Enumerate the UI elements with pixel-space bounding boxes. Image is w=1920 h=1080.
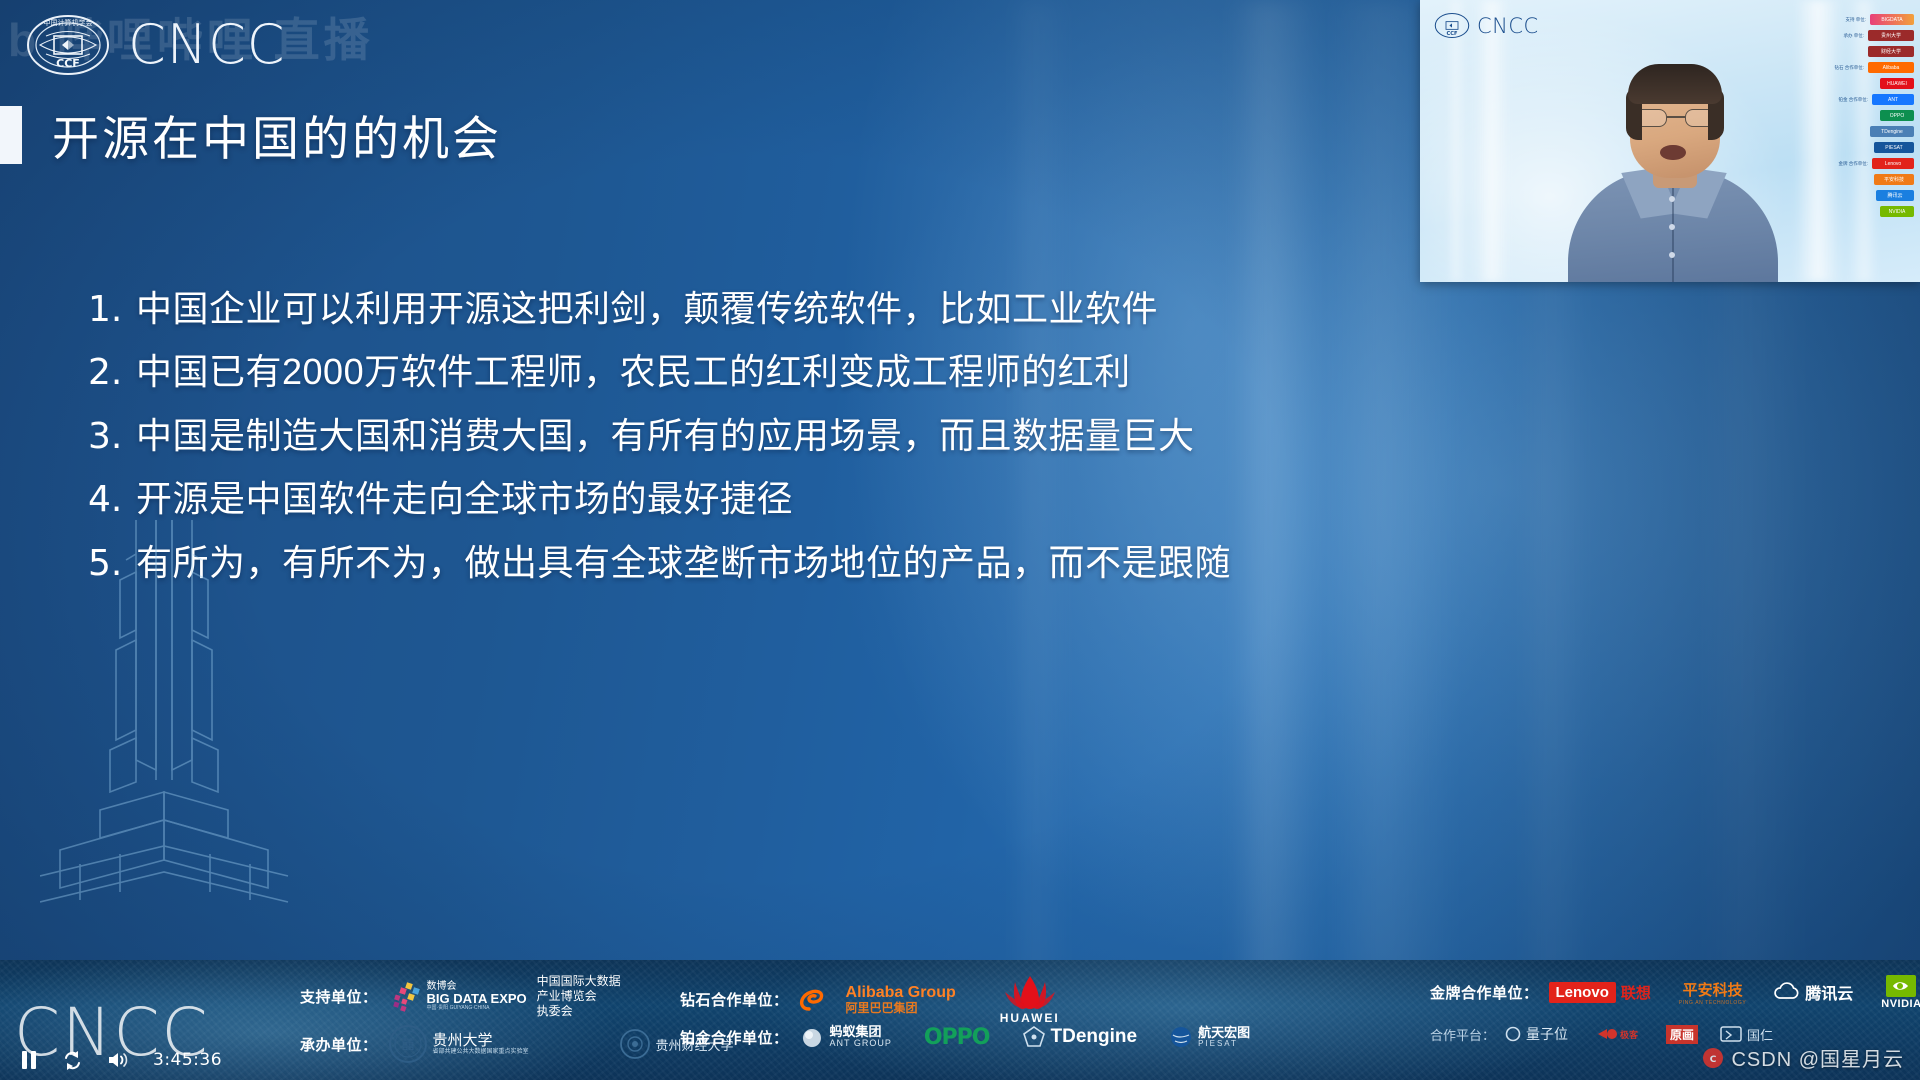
guoke-logo: 国仁 xyxy=(1720,1025,1773,1044)
slide-header: 中国计算机学会 CCF CNCC xyxy=(26,14,286,76)
big-data-expo-logo: BIGDATA xyxy=(1870,14,1914,25)
guizhou-finance-logo: 财经大学 xyxy=(1868,46,1914,57)
big-data-expo-icon xyxy=(388,980,422,1014)
speaker-figure xyxy=(1568,67,1778,282)
lenovo-logo: Lenovo 联想 xyxy=(1549,982,1651,1003)
csdn-watermark: C CSDN @国星月云 xyxy=(1702,1043,1904,1072)
list-item-text: 有所为，有所不为，做出具有全球垄断市场地位的产品，而不是跟随 xyxy=(136,542,1231,584)
list-item: 2. 中国已有2000万软件工程师，农民工的红利变成工程师的红利 xyxy=(88,351,1208,393)
pip-sponsor-row: 腾讯云 xyxy=(1828,190,1914,201)
list-item-number: 3. xyxy=(88,416,136,457)
title-accent-bar xyxy=(0,106,22,164)
webcam-pip-panel[interactable]: CCF CNCC 支持 单位: BIGDATA 承办 单位: 贵州大学 财经大学… xyxy=(1420,0,1920,282)
ant-icon xyxy=(799,1024,825,1050)
tencent-cloud-name: 腾讯云 xyxy=(1805,980,1853,1004)
list-item: 1. 中国企业可以利用开源这把利剑，颠覆传统软件，比如工业软件 xyxy=(88,288,1208,330)
tdengine-name: TDengine xyxy=(1051,1026,1138,1048)
lenovo-logo: Lenovo xyxy=(1872,158,1914,169)
huawei-logo: HUAWEI xyxy=(1000,974,1060,1025)
lenovo-cn: 联想 xyxy=(1621,982,1651,1003)
alibaba-logo: Alibaba xyxy=(1868,62,1914,73)
piesat-globe-icon xyxy=(1169,1025,1193,1049)
pip-sponsor-row: NVIDIA xyxy=(1828,206,1914,217)
piesat-logo: 航天宏图 PIESAT xyxy=(1169,1025,1250,1049)
pause-icon[interactable] xyxy=(20,1050,38,1070)
huawei-name: HUAWEI xyxy=(1000,1011,1060,1025)
nvidia-eye-icon xyxy=(1884,974,1918,998)
pip-sponsor-label: 承办 单位: xyxy=(1843,33,1864,39)
qbitai-icon xyxy=(1505,1026,1521,1042)
tdengine-icon xyxy=(1022,1025,1046,1049)
pip-sponsor-label: 钻石 合作单位: xyxy=(1835,65,1865,71)
pip-sponsor-row: OPPO xyxy=(1828,110,1914,121)
svg-text:CCF: CCF xyxy=(1446,31,1458,37)
pip-sponsor-column: 支持 单位: BIGDATA 承办 单位: 贵州大学 财经大学 钻石 合作单位:… xyxy=(1828,14,1914,217)
ant-group-logo: 蚂蚁集团 ANT GROUP xyxy=(799,1024,892,1050)
platform-row: 合作平台： 量子位 极客 原画 xyxy=(1430,1024,1773,1044)
eyeglasses-icon xyxy=(1634,109,1718,127)
yuanhua-name: 原画 xyxy=(1666,1025,1698,1044)
cncc-brand-text: CNCC xyxy=(128,18,286,72)
nvidia-logo: NVIDIA xyxy=(1880,206,1914,217)
svg-text:囍: 囍 xyxy=(401,1038,414,1053)
tencent-cloud-icon xyxy=(1774,982,1800,1002)
pip-sponsor-row: 平安科技 xyxy=(1828,174,1914,185)
pip-sponsor-label: 铂金 合作单位: xyxy=(1839,97,1869,103)
ant-cn: 蚂蚁集团 xyxy=(830,1025,892,1039)
pip-sponsor-row: TDengine xyxy=(1828,126,1914,137)
nvidia-name: NVIDIA xyxy=(1881,998,1920,1010)
list-item-number: 1. xyxy=(88,289,136,330)
diamond-row: 钻石合作单位： Alibaba Group 阿里巴巴集团 xyxy=(680,974,1060,1025)
svg-text:极客: 极客 xyxy=(1620,1029,1639,1041)
support-row: 支持单位： 数博会 BIG DATA E xyxy=(300,974,621,1019)
svg-text:C: C xyxy=(1710,1055,1717,1065)
ccf-seal-icon: 中国计算机学会 CCF xyxy=(26,14,110,76)
pip-cncc-logo: CCF CNCC xyxy=(1434,12,1539,39)
alibaba-logo: Alibaba Group 阿里巴巴集团 xyxy=(799,983,956,1017)
csdn-icon: C xyxy=(1702,1047,1724,1069)
redfish-logo: 极客 xyxy=(1596,1025,1640,1043)
big-data-expo-logo: 数博会 BIG DATA EXPO 中国·贵阳 GUIYANG·CHINA xyxy=(388,980,527,1014)
pingan-name: 平安科技 xyxy=(1683,979,1743,1000)
nvidia-logo: NVIDIA xyxy=(1881,974,1920,1010)
tdengine-logo: TDengine xyxy=(1870,126,1914,137)
player-controls[interactable]: 3:45:36 xyxy=(0,1040,360,1080)
alibaba-name: Alibaba Group xyxy=(846,984,956,1001)
diamond-label: 钻石合作单位： xyxy=(680,989,789,1010)
platform-label: 合作平台： xyxy=(1430,1025,1495,1044)
guizhou-university-logo: 囍 贵州大学 省部共建公共大数据国家重点实验室 xyxy=(388,1024,529,1064)
livestream-viewport: b 哔哩哔哩 直播 中国计算机学会 CCF CNCC 开源在中国的的机会 1. … xyxy=(0,0,1920,1080)
guoke-name: 国仁 xyxy=(1747,1025,1773,1044)
list-item-text: 中国是制造大国和消费大国，有所有的应用场景，而且数据量巨大 xyxy=(136,415,1195,457)
huawei-petals-icon xyxy=(1002,974,1058,1014)
expo-committee-name: 中国国际大数据 产业博览会 执委会 xyxy=(537,974,621,1019)
gold-label: 金牌合作单位： xyxy=(1430,982,1539,1003)
slide-bullet-list: 1. 中国企业可以利用开源这把利剑，颠覆传统软件，比如工业软件 2. 中国已有2… xyxy=(88,288,1208,605)
expo-tagline: 中国·贵阳 GUIYANG·CHINA xyxy=(427,1006,527,1011)
huawei-logo: HUAWEI xyxy=(1880,78,1914,89)
list-item-number: 5. xyxy=(88,543,136,584)
svg-text:中国计算机学会: 中国计算机学会 xyxy=(44,18,93,27)
pingan-logo: 平安科技 xyxy=(1874,174,1914,185)
list-item: 4. 开源是中国软件走向全球市场的最好捷径 xyxy=(88,478,1208,520)
playback-timestamp: 3:45:36 xyxy=(153,1050,222,1070)
list-item-text: 中国企业可以利用开源这把利剑，颠覆传统软件，比如工业软件 xyxy=(136,288,1158,330)
pip-sponsor-row: 承办 单位: 贵州大学 xyxy=(1828,30,1914,41)
list-item-number: 2. xyxy=(88,352,136,393)
pip-sponsor-label: 支持 单位: xyxy=(1845,17,1866,23)
oppo-name: OPPO xyxy=(924,1025,990,1050)
pip-sponsor-row: 钻石 合作单位: Alibaba xyxy=(1828,62,1914,73)
list-item: 3. 中国是制造大国和消费大国，有所有的应用场景，而且数据量巨大 xyxy=(88,415,1208,457)
ant-en: ANT GROUP xyxy=(830,1039,892,1049)
tdengine-logo: TDengine xyxy=(1022,1025,1138,1049)
pip-brand-text: CNCC xyxy=(1477,14,1539,38)
alibaba-cn: 阿里巴巴集团 xyxy=(846,1002,956,1015)
geekbang-icon: 极客 xyxy=(1596,1025,1640,1043)
svg-text:CCF: CCF xyxy=(56,57,80,70)
pip-sponsor-row: 支持 单位: BIGDATA xyxy=(1828,14,1914,25)
gzu-lab: 省部共建公共大数据国家重点实验室 xyxy=(433,1049,529,1056)
pip-sponsor-row: HUAWEI xyxy=(1828,78,1914,89)
slide-title-row: 开源在中国的的机会 xyxy=(0,100,502,169)
pip-sponsor-row: PIESAT xyxy=(1828,142,1914,153)
expo-en-name: BIG DATA EXPO xyxy=(427,992,527,1006)
pip-sponsor-row: 金牌 合作单位: Lenovo xyxy=(1828,158,1914,169)
yuanhua-logo: 原画 xyxy=(1666,1025,1698,1044)
list-item-number: 4. xyxy=(88,479,136,520)
csdn-watermark-text: CSDN @国星月云 xyxy=(1731,1043,1904,1072)
support-label: 支持单位： xyxy=(300,986,378,1007)
pingan-en: PING AN TECHNOLOGY xyxy=(1679,1000,1746,1006)
lenovo-name: Lenovo xyxy=(1549,982,1616,1003)
finance-university-seal-icon xyxy=(619,1028,651,1060)
piesat-logo: PIESAT xyxy=(1874,142,1914,153)
pingan-logo: 平安科技 PING AN TECHNOLOGY xyxy=(1679,979,1746,1006)
list-item: 5. 有所为，有所不为，做出具有全球垄断市场地位的产品，而不是跟随 xyxy=(88,542,1208,584)
ant-group-logo: ANT xyxy=(1872,94,1914,105)
pip-sponsor-label: 金牌 合作单位: xyxy=(1839,161,1869,167)
list-item-text: 中国已有2000万软件工程师，农民工的红利变成工程师的红利 xyxy=(136,351,1131,393)
platinum-row: 铂金合作单位： 蚂蚁集团 ANT GROUP OPPO TDe xyxy=(680,1024,1250,1050)
platinum-label: 铂金合作单位： xyxy=(680,1027,789,1048)
guizhou-university-logo: 贵州大学 xyxy=(1868,30,1914,41)
alibaba-icon xyxy=(799,983,841,1017)
qbitai-name: 量子位 xyxy=(1526,1024,1568,1044)
slide-title: 开源在中国的的机会 xyxy=(52,100,502,169)
ccf-seal-icon: CCF xyxy=(1434,12,1470,39)
gold-row: 金牌合作单位： Lenovo 联想 平安科技 PING AN TECHNOLOG… xyxy=(1430,974,1920,1010)
pip-sponsor-row: 铂金 合作单位: ANT xyxy=(1828,94,1914,105)
gzu-name: 贵州大学 xyxy=(433,1032,529,1049)
university-seal-icon: 囍 xyxy=(388,1024,428,1064)
oppo-logo: OPPO xyxy=(924,1025,990,1050)
tencent-cloud-logo: 腾讯云 xyxy=(1774,980,1853,1004)
piesat-en: PIESAT xyxy=(1198,1040,1250,1049)
tencent-cloud-logo: 腾讯云 xyxy=(1876,190,1914,201)
pip-sponsor-row: 财经大学 xyxy=(1828,46,1914,57)
guoke-icon xyxy=(1720,1025,1742,1043)
list-item-text: 开源是中国软件走向全球市场的最好捷径 xyxy=(136,478,793,520)
qbitai-logo: 量子位 xyxy=(1505,1024,1568,1044)
volume-icon[interactable] xyxy=(107,1050,129,1070)
organizer-row: 承办单位： 囍 贵州大学 省部共建公共大数据国家重点实验室 贵州 xyxy=(300,1024,734,1064)
oppo-logo: OPPO xyxy=(1880,110,1914,121)
piesat-cn: 航天宏图 xyxy=(1198,1026,1250,1040)
loop-icon[interactable] xyxy=(62,1050,83,1071)
